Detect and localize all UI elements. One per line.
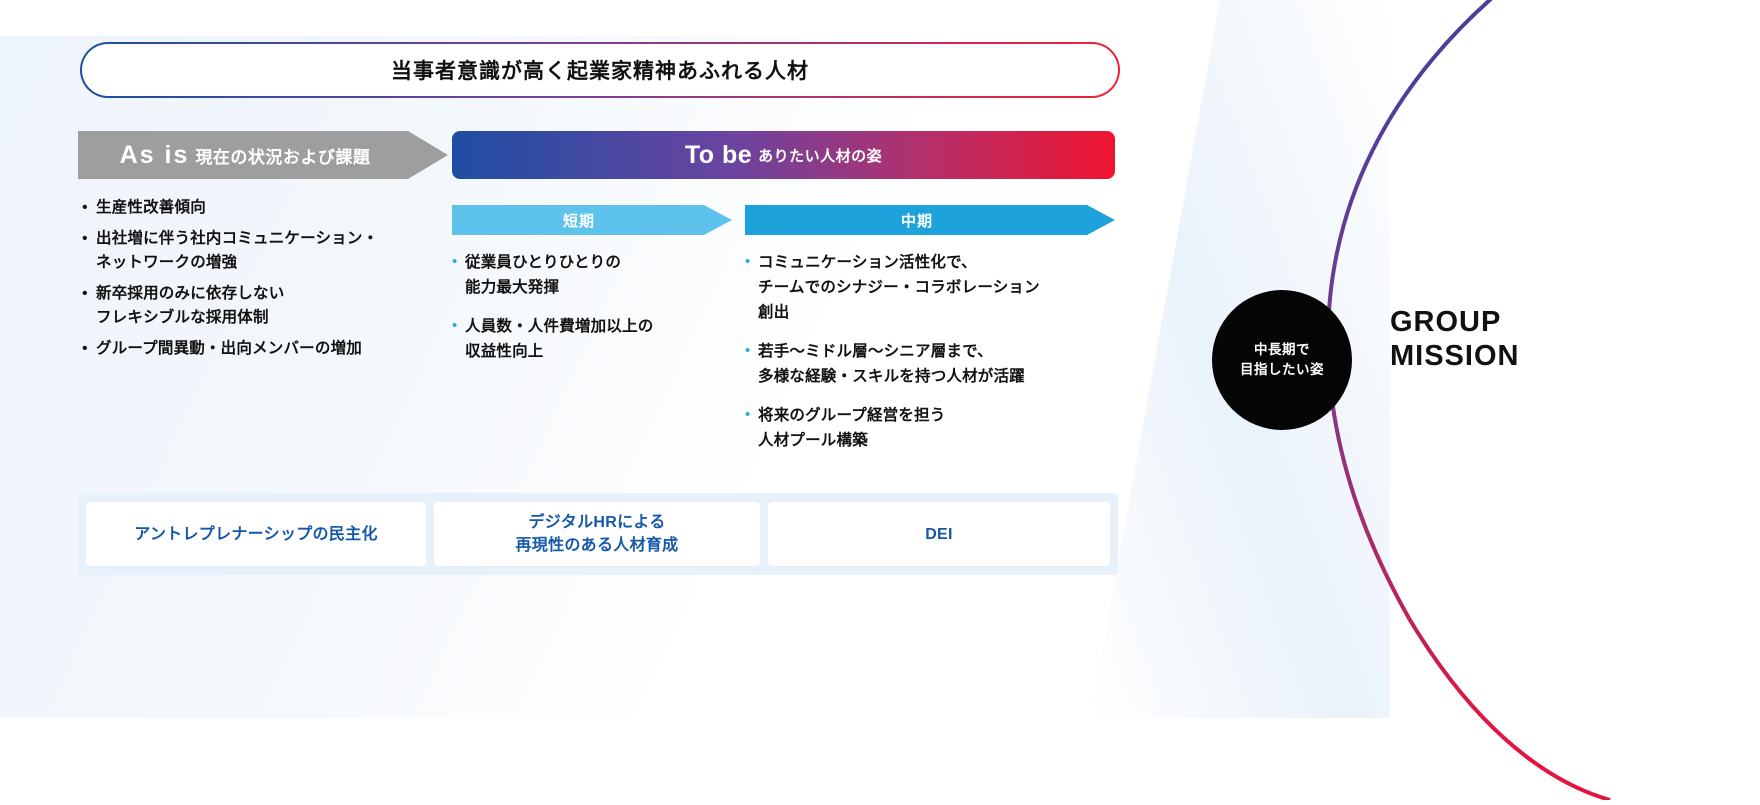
list-item-text: 将来のグループ経営を担う 人材プール構築 [758,403,945,453]
list-item-line: 人員数・人件費増加以上の [465,314,653,339]
list-item-line: コミュニケーション活性化で、 [758,250,1040,275]
to-be-label-jp: ありたい人材の姿 [758,145,882,166]
bullet-dot-icon: • [745,403,758,453]
list-item-line: 創出 [758,300,1040,325]
mid-term-bullet-list: • コミュニケーション活性化で、 チームでのシナジー・コラボレーション 創出 •… [745,250,1125,467]
list-item-text: コミュニケーション活性化で、 チームでのシナジー・コラボレーション 創出 [758,250,1040,325]
short-term-banner: 短期 [452,205,732,235]
as-is-bullet-list: • 生産性改善傾向 • 出社増に伴う社内コミュニケーション・ ネットワークの増強… [82,196,462,368]
page-title: 当事者意識が高く起業家精神あふれる人材 [391,55,809,85]
bullet-dot-icon: • [745,339,758,389]
title-banner-inner: 当事者意識が高く起業家精神あふれる人材 [82,44,1118,96]
pillar-card-2-text: デジタルHRによる 再現性のある人材育成 [515,511,678,557]
list-item: • 生産性改善傾向 [82,196,462,220]
list-item-line: 収益性向上 [465,339,653,364]
bullet-dot-icon: • [82,337,96,361]
bullet-dot-icon: • [745,250,758,325]
group-mission-line-2: MISSION [1390,339,1650,373]
list-item-line: 従業員ひとりひとりの [465,250,621,275]
list-item-text: 人員数・人件費増加以上の 収益性向上 [465,314,653,364]
mission-circle-text: 中長期で 目指したい姿 [1240,340,1324,380]
list-item-line: ネットワークの増強 [96,251,378,275]
list-item-line: 人材プール構築 [758,428,945,453]
as-is-label-en: As is [120,141,190,170]
pillar-line: デジタルHRによる [515,511,678,534]
list-item: • グループ間異動・出向メンバーの増加 [82,337,462,361]
pillar-card-3: DEI [768,502,1110,566]
group-mission-heading: GROUP MISSION [1390,305,1650,373]
pillar-line: DEI [925,523,953,546]
mission-circle-line: 中長期で [1240,340,1324,360]
list-item-text: 従業員ひとりひとりの 能力最大発揮 [465,250,621,300]
mission-circle-line: 目指したい姿 [1240,360,1324,380]
bullet-dot-icon: • [452,314,465,364]
list-item: • 若手〜ミドル層〜シニア層まで、 多様な経験・スキルを持つ人材が活躍 [745,339,1125,389]
bullet-dot-icon: • [82,227,96,275]
short-term-label: 短期 [563,210,595,231]
list-item-line: 若手〜ミドル層〜シニア層まで、 [758,339,1025,364]
as-is-label-jp: 現在の状況および課題 [195,143,370,168]
list-item: • 将来のグループ経営を担う 人材プール構築 [745,403,1125,453]
pillar-line: 再現性のある人材育成 [515,534,678,557]
list-item-line: 新卒採用のみに依存しない [96,282,284,306]
list-item-line: 生産性改善傾向 [96,196,206,220]
mission-circle: 中長期で 目指したい姿 [1212,290,1352,430]
pillar-card-1-text: アントレプレナーシップの民主化 [134,523,378,546]
bullet-dot-icon: • [452,250,465,300]
list-item-line: 将来のグループ経営を担う [758,403,945,428]
list-item: • コミュニケーション活性化で、 チームでのシナジー・コラボレーション 創出 [745,250,1125,325]
pillar-line: アントレプレナーシップの民主化 [134,523,378,546]
title-banner: 当事者意識が高く起業家精神あふれる人材 [80,42,1120,98]
pillar-card-1: アントレプレナーシップの民主化 [86,502,426,566]
list-item: • 従業員ひとりひとりの 能力最大発揮 [452,250,742,300]
list-item-text: 生産性改善傾向 [96,196,206,220]
list-item-line: グループ間異動・出向メンバーの増加 [96,337,362,361]
list-item-text: グループ間異動・出向メンバーの増加 [96,337,362,361]
list-item-text: 新卒採用のみに依存しない フレキシブルな採用体制 [96,282,284,330]
group-mission-line-1: GROUP [1390,305,1650,339]
mid-term-label: 中期 [901,210,933,231]
list-item-line: 出社増に伴う社内コミュニケーション・ [96,227,378,251]
list-item-line: フレキシブルな採用体制 [96,306,284,330]
list-item-text: 若手〜ミドル層〜シニア層まで、 多様な経験・スキルを持つ人材が活躍 [758,339,1025,389]
bullet-dot-icon: • [82,282,96,330]
list-item: • 人員数・人件費増加以上の 収益性向上 [452,314,742,364]
list-item-line: チームでのシナジー・コラボレーション [758,275,1040,300]
mid-term-banner: 中期 [745,205,1115,235]
list-item-line: 多様な経験・スキルを持つ人材が活躍 [758,364,1025,389]
list-item-line: 能力最大発揮 [465,275,621,300]
list-item-text: 出社増に伴う社内コミュニケーション・ ネットワークの増強 [96,227,378,275]
list-item: • 出社増に伴う社内コミュニケーション・ ネットワークの増強 [82,227,462,275]
to-be-label-en: To be [685,141,752,170]
pillar-card-3-text: DEI [925,523,953,546]
pillar-card-2: デジタルHRによる 再現性のある人材育成 [434,502,760,566]
bullet-dot-icon: • [82,196,96,220]
to-be-banner: To be ありたい人材の姿 [452,131,1115,179]
as-is-banner: As is 現在の状況および課題 [78,131,448,179]
short-term-bullet-list: • 従業員ひとりひとりの 能力最大発揮 • 人員数・人件費増加以上の 収益性向上 [452,250,742,378]
mission-arc-path [1328,0,1610,800]
list-item: • 新卒採用のみに依存しない フレキシブルな採用体制 [82,282,462,330]
slide-stage: 当事者意識が高く起業家精神あふれる人材 As is 現在の状況および課題 To … [0,0,1760,718]
